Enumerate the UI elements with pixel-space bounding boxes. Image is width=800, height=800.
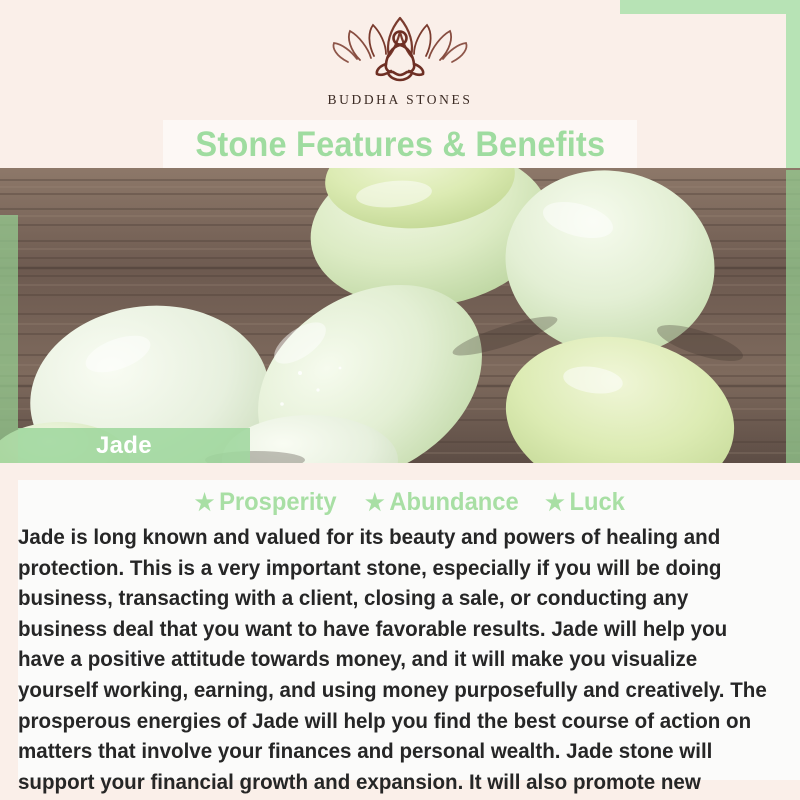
star-icon: ★ bbox=[545, 489, 565, 515]
page-title: Stone Features & Benefits bbox=[195, 125, 605, 165]
brand-name: BUDDHA STONES bbox=[0, 92, 800, 108]
benefit-label: Luck bbox=[569, 488, 624, 516]
brand-logo-block: BUDDHA STONES bbox=[0, 10, 800, 108]
star-icon: ★ bbox=[195, 489, 215, 515]
stone-name-badge: Jade bbox=[18, 428, 250, 464]
photo-overlay-strip-right bbox=[786, 170, 800, 463]
benefits-row: ★Prosperity ★Abundance ★Luck bbox=[18, 488, 800, 517]
stone-name-label: Jade bbox=[96, 432, 152, 460]
benefit-label: Prosperity bbox=[219, 488, 336, 516]
description-section: ★Prosperity ★Abundance ★Luck Jade is lon… bbox=[0, 463, 800, 800]
description-text: Jade is long known and valued for its be… bbox=[18, 522, 773, 800]
benefit-abundance: ★Abundance bbox=[365, 488, 519, 517]
stone-photo-graphic bbox=[0, 168, 800, 463]
stone-photo bbox=[0, 168, 800, 463]
benefit-luck: ★Luck bbox=[545, 488, 625, 517]
lotus-meditation-icon bbox=[320, 10, 480, 88]
title-banner: Stone Features & Benefits bbox=[163, 120, 637, 170]
infographic-page: BUDDHA STONES Stone Features & Benefits bbox=[0, 0, 800, 800]
benefit-prosperity: ★Prosperity bbox=[195, 488, 337, 517]
star-icon: ★ bbox=[365, 489, 385, 515]
photo-overlay-strip-left bbox=[0, 215, 18, 463]
description-card: ★Prosperity ★Abundance ★Luck Jade is lon… bbox=[18, 480, 800, 780]
benefit-label: Abundance bbox=[389, 488, 518, 516]
